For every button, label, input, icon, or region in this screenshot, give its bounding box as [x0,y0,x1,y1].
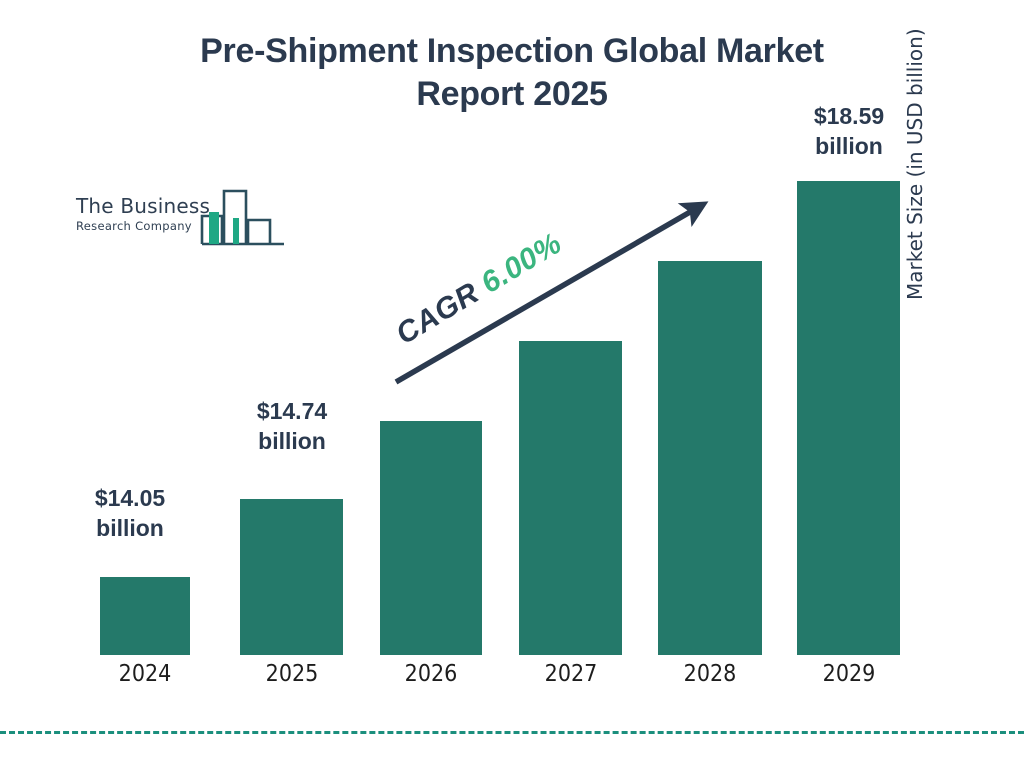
value-label-2025: $14.74 billion [222,396,362,457]
x-axis-tick-2027: 2027 [511,661,631,687]
logo-line-2: Research Company [76,219,210,233]
x-axis-tick-2028: 2028 [650,661,770,687]
bar-2027 [519,341,622,655]
bar-2024 [100,577,190,655]
value-label-2029-unit: billion [779,131,919,161]
value-label-2029: $18.59 billion [779,101,919,162]
bar-2026 [380,421,482,655]
value-label-2025-amount: $14.74 [222,396,362,426]
company-logo: The Business Research Company [76,188,286,252]
x-axis-tick-2026: 2026 [371,661,491,687]
value-label-2024: $14.05 billion [60,483,200,544]
logo-wordmark: The Business Research Company [76,194,210,233]
value-label-2024-amount: $14.05 [60,483,200,513]
cagr-label: CAGR 6.00% [390,227,568,352]
y-axis-title: Market Size (in USD billion) [903,0,927,300]
value-label-2029-amount: $18.59 [779,101,919,131]
x-axis-tick-2024: 2024 [85,661,205,687]
bar-2029 [797,181,900,655]
value-label-2025-unit: billion [222,426,362,456]
cagr-prefix: CAGR [390,276,484,351]
bar-2028 [658,261,762,655]
chart-canvas: Pre-Shipment Inspection Global Market Re… [0,0,1024,768]
logo-bar-chart-icon [200,188,286,250]
footer-divider [0,731,1024,734]
value-label-2024-unit: billion [60,513,200,543]
chart-title-line-1: Pre-Shipment Inspection Global Market [112,30,912,73]
x-axis-tick-2029: 2029 [789,661,909,687]
bar-2025 [240,499,343,655]
logo-line-1: The Business [76,194,210,218]
cagr-value: 6.00% [476,227,568,300]
x-axis-tick-2025: 2025 [232,661,352,687]
